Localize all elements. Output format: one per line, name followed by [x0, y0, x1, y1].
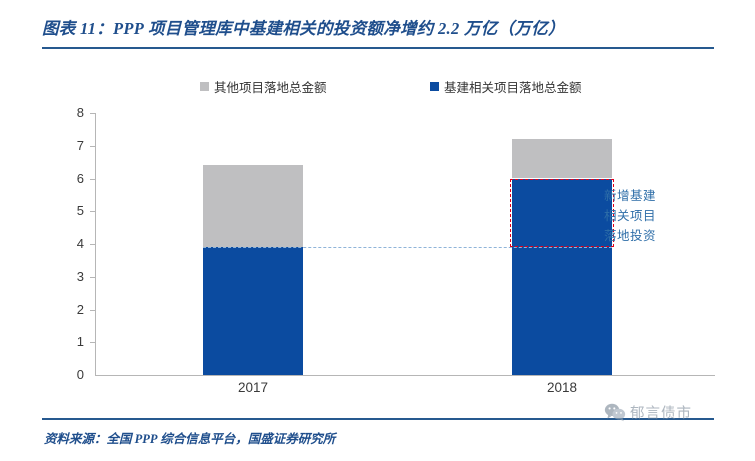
y-axis-tick-mark: [90, 179, 95, 180]
y-axis-tick-mark: [90, 146, 95, 147]
y-axis-tick-label: 3: [60, 270, 84, 283]
y-axis-tick-mark: [90, 244, 95, 245]
y-axis-tick-mark: [90, 211, 95, 212]
wechat-icon: [604, 402, 626, 422]
source-note: 资料来源：全国 PPP 综合信息平台，国盛证券研究所: [44, 428, 335, 447]
watermark: 郁言债市: [604, 400, 724, 424]
highlight-rectangle: [510, 179, 614, 248]
y-axis-tick-mark: [90, 342, 95, 343]
annotation-line-3: 落地投资: [604, 226, 700, 246]
y-axis-tick-label: 2: [60, 303, 84, 316]
annotation-line-1: 新增基建: [604, 186, 700, 206]
y-axis-tick-label: 0: [60, 368, 84, 381]
y-axis-line: [95, 113, 96, 376]
annotation-line-2: 相关项目: [604, 206, 700, 226]
plot-area: 012345678 20172018 新增基建 相关项目 落地投资: [0, 0, 755, 461]
bar-segment-other-2018: [512, 139, 612, 178]
figure-panel: 图表 11：PPP 项目管理库中基建相关的投资额净增约 2.2 万亿（万亿） 其…: [0, 0, 755, 461]
bar-segment-other-2017: [203, 165, 303, 247]
y-axis-tick-label: 6: [60, 172, 84, 185]
annotation-text: 新增基建 相关项目 落地投资: [604, 186, 700, 246]
y-axis-tick-mark: [90, 277, 95, 278]
y-axis-tick-label: 1: [60, 335, 84, 348]
y-axis-tick-label: 7: [60, 139, 84, 152]
y-axis-tick-mark: [90, 113, 95, 114]
y-axis-tick-label: 5: [60, 204, 84, 217]
y-axis-tick-mark: [90, 310, 95, 311]
x-axis-line: [95, 375, 715, 376]
watermark-text: 郁言债市: [630, 402, 692, 423]
reference-line: [203, 247, 612, 248]
x-axis-tick-label-2017: 2017: [193, 380, 313, 395]
x-axis-tick-label-2018: 2018: [502, 380, 622, 395]
bar-segment-infrastructure-2017: [203, 247, 303, 375]
y-axis-tick-label: 8: [60, 106, 84, 119]
y-axis-tick-label: 4: [60, 237, 84, 250]
